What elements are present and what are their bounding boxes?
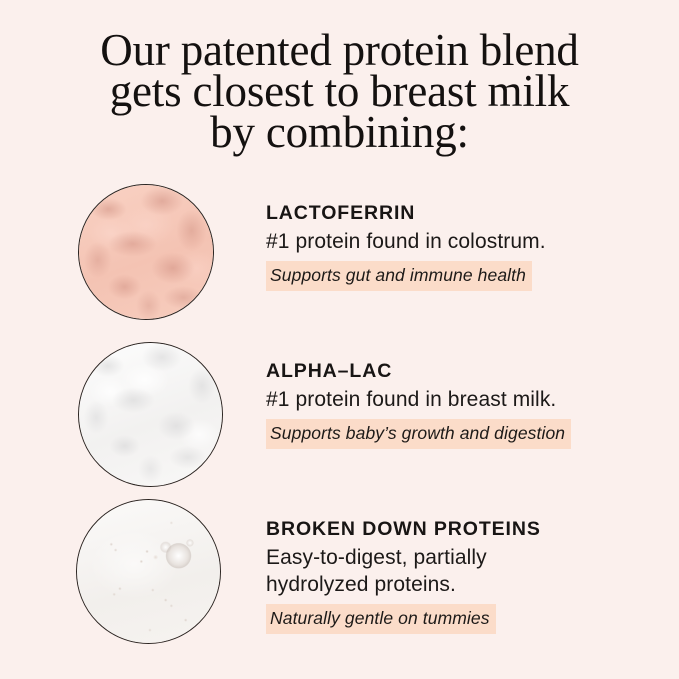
list-item: BROKEN DOWN PROTEINS Easy-to-digest, par… [0, 494, 679, 644]
list-item: LACTOFERRIN #1 protein found in colostru… [0, 178, 679, 336]
item-description: #1 protein found in breast milk. [266, 386, 659, 413]
item-text-block: BROKEN DOWN PROTEINS Easy-to-digest, par… [266, 516, 659, 634]
item-benefit-tag: Supports baby’s growth and digestion [266, 419, 571, 449]
broken-down-proteins-swatch [76, 499, 221, 644]
item-description-line: Easy-to-digest, partially [266, 544, 659, 571]
item-description-line: #1 protein found in breast milk. [266, 386, 659, 413]
list-item: ALPHA–LAC #1 protein found in breast mil… [0, 336, 679, 494]
item-benefit-tag: Supports gut and immune health [266, 261, 532, 291]
item-description-line: #1 protein found in colostrum. [266, 228, 659, 255]
item-description: Easy-to-digest, partially hydrolyzed pro… [266, 544, 659, 598]
item-text-block: LACTOFERRIN #1 protein found in colostru… [266, 200, 659, 291]
headline-line-1: Our patented protein blend [0, 30, 679, 71]
infographic-page: Our patented protein blend gets closest … [0, 0, 679, 679]
ingredient-list: LACTOFERRIN #1 protein found in colostru… [0, 178, 679, 644]
item-title: LACTOFERRIN [266, 200, 659, 226]
page-title: Our patented protein blend gets closest … [0, 30, 679, 153]
alpha-lac-powder-swatch [78, 342, 223, 487]
item-text-block: ALPHA–LAC #1 protein found in breast mil… [266, 358, 659, 449]
item-title: BROKEN DOWN PROTEINS [266, 516, 659, 542]
headline-line-2: gets closest to breast milk [0, 71, 679, 112]
item-title: ALPHA–LAC [266, 358, 659, 384]
powder-texture [79, 343, 222, 486]
lactoferrin-powder-swatch [78, 184, 214, 320]
item-description: #1 protein found in colostrum. [266, 228, 659, 255]
item-description-line: hydrolyzed proteins. [266, 571, 659, 598]
item-benefit-tag: Naturally gentle on tummies [266, 604, 496, 634]
liquid-bubbles-texture [77, 500, 220, 643]
headline-line-3: by combining: [0, 112, 679, 153]
powder-texture [79, 185, 213, 319]
